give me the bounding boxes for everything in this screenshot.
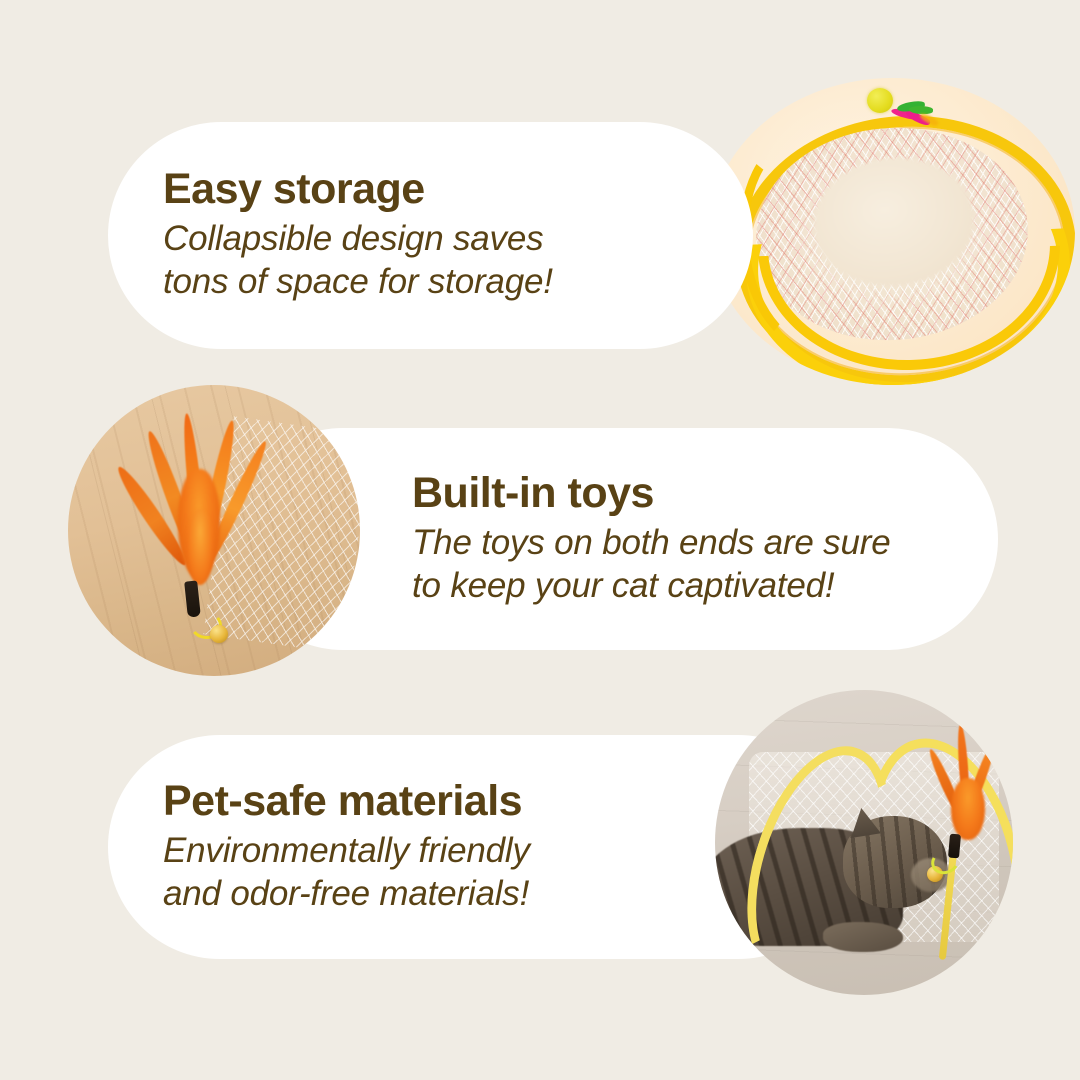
feather-tuft-toy xyxy=(889,100,947,134)
collapsed-cat-tunnel-photo xyxy=(710,78,1075,385)
card-title-built-in-toys: Built-in toys xyxy=(412,471,998,516)
feature-card-easy-storage: Easy storage Collapsible design saves to… xyxy=(108,122,753,349)
orange-feather-toy xyxy=(923,724,1007,848)
card-description-line: tons of space for storage! xyxy=(163,262,553,301)
card-description-line: and odor-free materials! xyxy=(163,874,529,913)
feather-toy-closeup-photo xyxy=(68,385,360,676)
card-description-line: to keep your cat captivated! xyxy=(412,566,834,605)
card-description-built-in-toys: The toys on both ends are sure to keep y… xyxy=(412,522,998,607)
card-description-line: Collapsible design saves xyxy=(163,219,543,258)
cat-inside-tunnel-photo xyxy=(715,690,1013,995)
tunnel-illustration xyxy=(710,78,1075,385)
gold-bell xyxy=(210,625,228,643)
orange-feather-plume xyxy=(126,413,316,613)
infographic-canvas: Easy storage Collapsible design saves to… xyxy=(0,0,1080,1080)
card-title-easy-storage: Easy storage xyxy=(163,167,753,212)
card-description-easy-storage: Collapsible design saves tons of space f… xyxy=(163,218,753,303)
card-description-line: Environmentally friendly xyxy=(163,831,530,870)
card-description-line: The toys on both ends are sure xyxy=(412,523,890,562)
